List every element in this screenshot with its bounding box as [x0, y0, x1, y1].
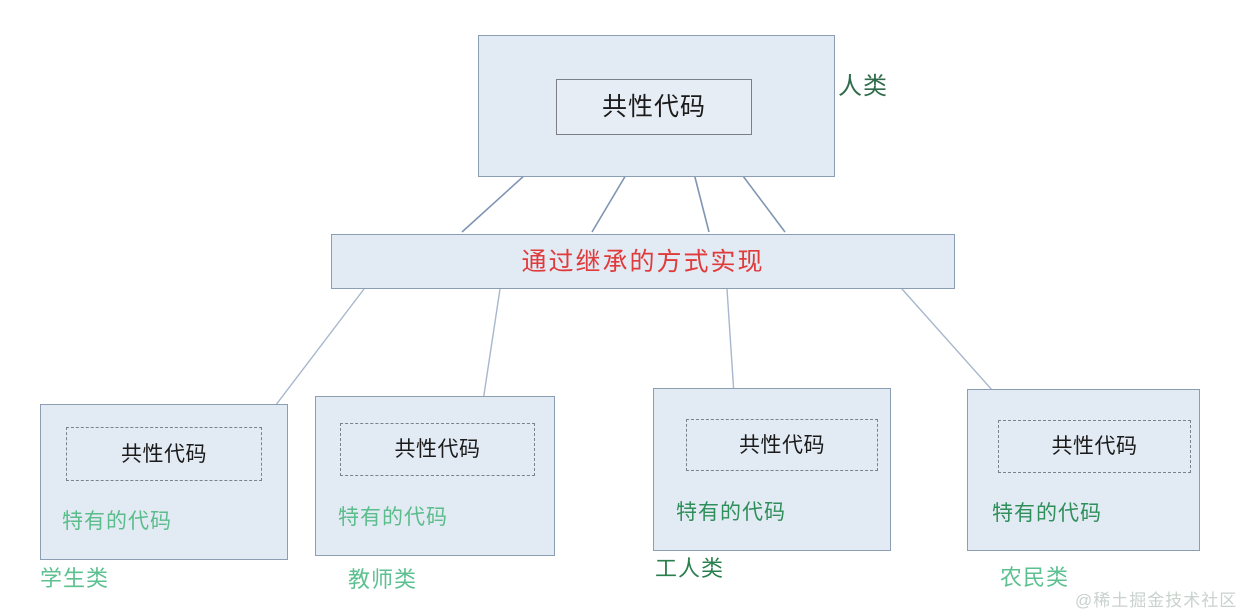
worker-common-code-box[interactable]: 共性代码 [686, 419, 878, 471]
diagram-canvas: 共性代码 人类 通过继承的方式实现 共性代码 特有的代码 学生类 共性代码 特有… [0, 0, 1240, 616]
parent-class-box[interactable]: 共性代码 [478, 35, 835, 177]
inheritance-note-label: 通过继承的方式实现 [332, 250, 954, 275]
teacher-common-code-box[interactable]: 共性代码 [340, 423, 535, 476]
worker-common-code-label: 共性代码 [739, 435, 825, 456]
farmer-common-code-box[interactable]: 共性代码 [998, 420, 1191, 473]
child-class-box-teacher[interactable]: 共性代码 特有的代码 [315, 396, 555, 556]
child-class-name-farmer: 农民类 [1000, 567, 1069, 589]
watermark-label: @稀土掘金技术社区 [1075, 592, 1237, 609]
worker-unique-code-label: 特有的代码 [676, 502, 786, 523]
farmer-unique-code-label: 特有的代码 [992, 503, 1102, 524]
child-class-box-farmer[interactable]: 共性代码 特有的代码 [967, 389, 1200, 551]
child-class-box-student[interactable]: 共性代码 特有的代码 [40, 404, 288, 560]
child-class-name-teacher: 教师类 [348, 569, 417, 591]
teacher-unique-code-label: 特有的代码 [338, 507, 448, 528]
student-common-code-label: 共性代码 [121, 444, 207, 465]
farmer-common-code-label: 共性代码 [1052, 436, 1138, 457]
student-unique-code-label: 特有的代码 [62, 511, 172, 532]
child-class-name-worker: 工人类 [655, 558, 724, 580]
parent-common-code-label: 共性代码 [602, 95, 706, 120]
parent-class-name-label: 人类 [838, 75, 888, 99]
inheritance-note-box[interactable]: 通过继承的方式实现 [331, 234, 955, 289]
child-class-name-student: 学生类 [40, 568, 109, 590]
child-class-box-worker[interactable]: 共性代码 特有的代码 [653, 388, 891, 551]
teacher-common-code-label: 共性代码 [395, 439, 481, 460]
student-common-code-box[interactable]: 共性代码 [66, 427, 262, 481]
parent-common-code-box[interactable]: 共性代码 [556, 79, 752, 135]
